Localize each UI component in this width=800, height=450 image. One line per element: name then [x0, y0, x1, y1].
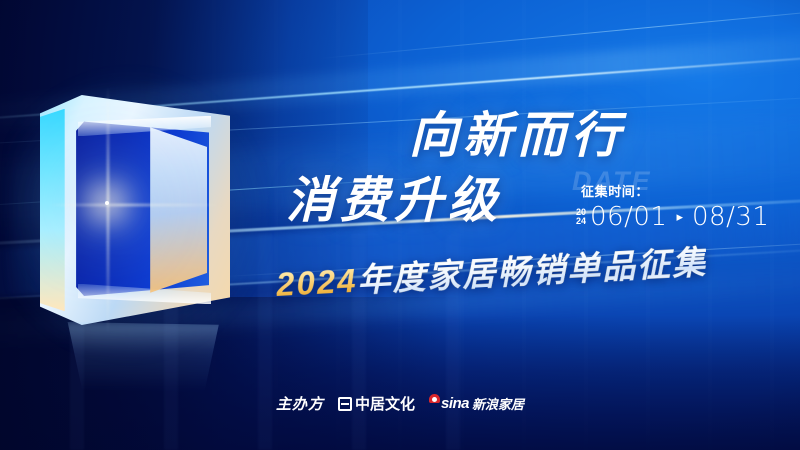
date-separator-icon: ▸	[671, 209, 688, 225]
headline-line-2: 消费升级	[286, 177, 502, 226]
slogan-year: 2024	[275, 262, 358, 303]
date-range-row: 20 24 06/01 ▸ 08/31	[576, 202, 769, 232]
portal-open-door-panel	[150, 127, 207, 293]
zhongju-logo-text: 中居文化	[355, 393, 415, 414]
date-year-bottom: 24	[576, 217, 586, 226]
date-block: DATE 征集时间： 20 24 06/01 ▸ 08/31	[570, 166, 785, 236]
zhongju-logo: 中居文化	[338, 393, 415, 414]
portal-left-face	[40, 109, 65, 311]
headline-line-1: 向新而行	[409, 112, 625, 161]
promo-poster: 向新而行 消费升级 DATE 征集时间： 20 24 06/01 ▸ 08/31…	[0, 0, 800, 450]
date-label: 征集时间：	[581, 181, 649, 200]
date-end: 08/31	[692, 202, 769, 232]
date-year: 20 24	[576, 208, 586, 227]
star-glow-vertical-ray	[107, 86, 109, 334]
date-start: 06/01	[590, 202, 667, 232]
portal-door-graphic	[40, 95, 230, 325]
footer-sponsor-bar: 主办方 中居文化 sina 新浪家居	[0, 393, 800, 414]
sina-eye-icon	[429, 394, 440, 403]
sina-home-text: 新浪家居	[472, 394, 524, 413]
four-point-star-glow-icon	[105, 201, 109, 205]
sina-logo: sina 新浪家居	[429, 394, 524, 413]
organizer-label: 主办方	[276, 393, 324, 414]
sina-wordmark: sina	[441, 395, 469, 412]
star-glow-horizontal-ray	[48, 204, 223, 206]
zhongju-mark-icon	[338, 397, 352, 411]
